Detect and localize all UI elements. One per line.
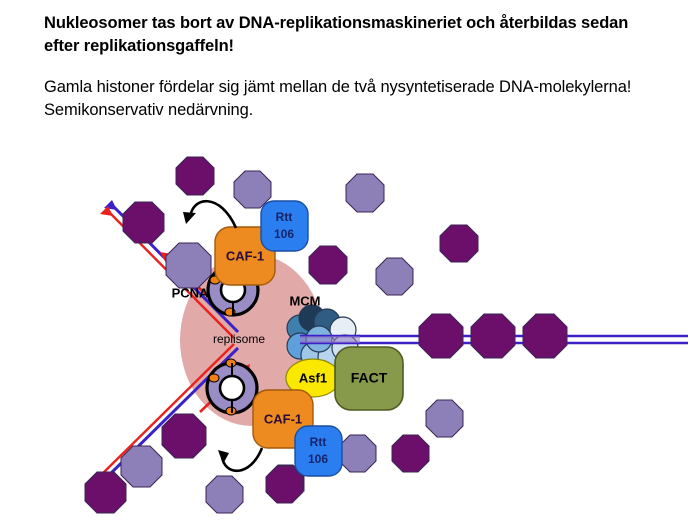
rtt106-node-top[interactable]: Rtt 106 xyxy=(261,201,308,251)
nucleosome-light-on-strand xyxy=(121,446,162,487)
nucleosome-dark xyxy=(440,225,478,262)
nucleosome-light xyxy=(339,435,376,472)
nucleosome-dark-on-strand xyxy=(85,472,126,513)
nucleosome-light xyxy=(206,476,243,513)
nucleosome-light xyxy=(346,174,384,212)
mcm-label: MCM xyxy=(289,293,320,308)
nucleosome-light xyxy=(426,400,463,437)
replication-fork-svg: Asf1 FACT CAF-1 Rtt 106 CAF-1 Rtt 106 xyxy=(0,150,694,520)
rtt106-top-label-line1: Rtt xyxy=(276,210,293,224)
page-subtitle: Gamla histoner fördelar sig jämt mellan … xyxy=(44,76,664,123)
caf1-bottom-label: CAF-1 xyxy=(264,411,302,426)
nucleosome-dark-on-parental xyxy=(523,314,567,358)
deposition-arrow-upper xyxy=(183,201,236,228)
fact-label: FACT xyxy=(351,370,388,386)
nucleosome-light xyxy=(234,171,271,208)
figure-container: Asf1 FACT CAF-1 Rtt 106 CAF-1 Rtt 106 xyxy=(0,150,694,520)
nucleosome-dark xyxy=(176,157,214,195)
rtt106-top-label-line2: 106 xyxy=(274,227,294,241)
page-title: Nukleosomer tas bort av DNA-replikations… xyxy=(44,12,664,59)
nucleosome-light-on-strand xyxy=(166,243,211,288)
rtt106-bottom-label-line2: 106 xyxy=(308,452,328,466)
caf1-top-label: CAF-1 xyxy=(226,248,264,263)
replisome-label: replisome xyxy=(213,332,265,346)
nucleosome-dark-on-parental xyxy=(419,314,463,358)
nucleosome-dark-on-strand xyxy=(162,414,206,458)
nucleosome-dark-on-strand xyxy=(123,202,164,243)
rtt106-node-bottom[interactable]: Rtt 106 xyxy=(295,426,342,476)
deposition-arrow-lower xyxy=(218,448,262,471)
slide-canvas: Nukleosomer tas bort av DNA-replikations… xyxy=(0,0,694,520)
nucleosome-dark xyxy=(392,435,429,472)
rtt106-bottom-label-line1: Rtt xyxy=(310,435,327,449)
asf1-label: Asf1 xyxy=(299,370,327,385)
nucleosome-dark-on-parental xyxy=(471,314,515,358)
fact-node[interactable]: FACT xyxy=(335,347,403,410)
pcna-label: PCNA xyxy=(172,285,209,300)
nucleosome-dark xyxy=(309,246,347,284)
nucleosome-light xyxy=(376,258,413,295)
